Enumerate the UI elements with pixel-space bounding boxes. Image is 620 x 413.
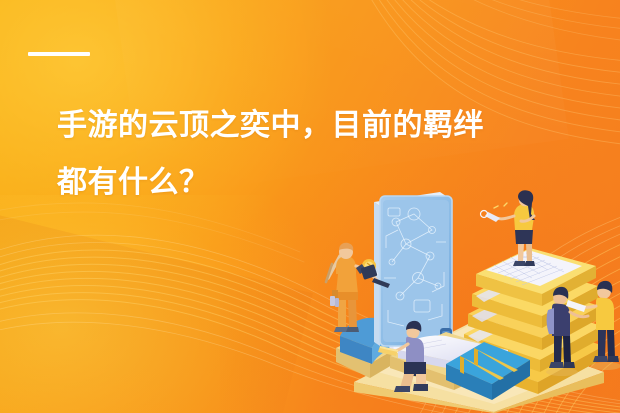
accent-bar bbox=[28, 52, 90, 56]
article-cover: 手游的云顶之奕中，目前的羁绊 都有什么？ bbox=[0, 0, 620, 413]
hero-illustration bbox=[318, 186, 620, 413]
